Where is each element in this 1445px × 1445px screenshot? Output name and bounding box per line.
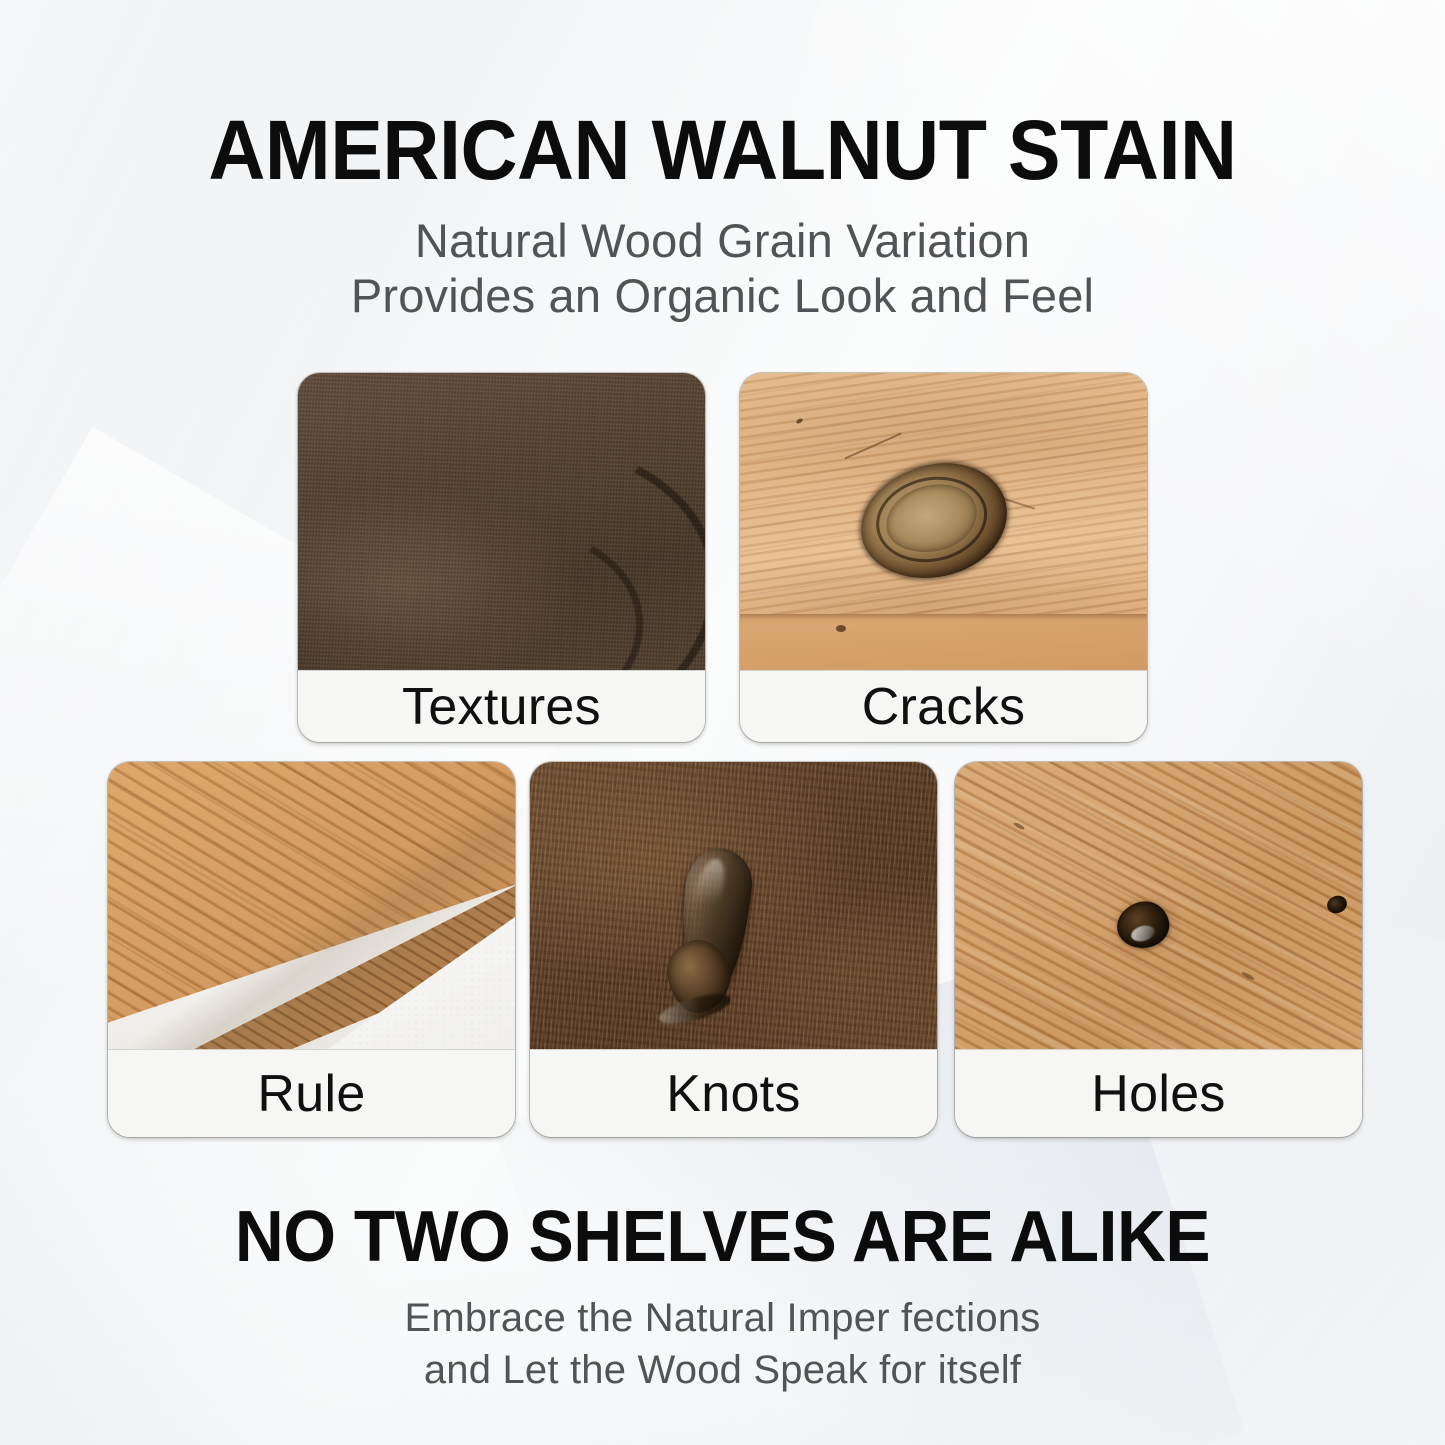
- feature-card-cracks[interactable]: Cracks: [740, 373, 1147, 742]
- wood-hole-small: [1325, 893, 1350, 916]
- footer-subtitle: Embrace the Natural Imper fections and L…: [0, 1292, 1445, 1396]
- footer-title: NO TWO SHELVES ARE ALIKE: [43, 1197, 1401, 1277]
- grain-speck: [795, 418, 803, 425]
- card-photo-holes: [955, 762, 1362, 1049]
- footer-subtitle-line-2: and Let the Wood Speak for itself: [0, 1344, 1445, 1396]
- grain-speck: [1013, 821, 1025, 830]
- board-seam: [740, 614, 1147, 670]
- card-label-rule: Rule: [108, 1049, 515, 1137]
- card-label-holes: Holes: [955, 1049, 1362, 1137]
- wood-swatch-holes: [955, 762, 1362, 1049]
- grain-speck: [1241, 971, 1255, 981]
- card-photo-cracks: [740, 373, 1147, 670]
- card-photo-rule: [108, 762, 515, 1049]
- feature-card-holes[interactable]: Holes: [955, 762, 1362, 1137]
- feature-card-knots[interactable]: Knots: [530, 762, 937, 1137]
- feature-card-textures[interactable]: Textures: [298, 373, 705, 742]
- wood-swatch-rule: [108, 762, 515, 1049]
- page-title: AMERICAN WALNUT STAIN: [43, 104, 1401, 196]
- infographic-page: AMERICAN WALNUT STAIN Natural Wood Grain…: [0, 0, 1445, 1445]
- wood-knot: [850, 451, 1018, 591]
- footer-subtitle-line-1: Embrace the Natural Imper fections: [0, 1292, 1445, 1344]
- grain-speck: [836, 625, 846, 632]
- wood-swatch-cracks: [740, 373, 1147, 670]
- page-subtitle-line-1: Natural Wood Grain Variation: [0, 213, 1445, 268]
- feature-card-rule[interactable]: Rule: [108, 762, 515, 1137]
- wood-swatch-knots: [530, 762, 937, 1049]
- wood-swatch-textures: [298, 373, 705, 670]
- card-label-knots: Knots: [530, 1049, 937, 1137]
- card-photo-knots: [530, 762, 937, 1049]
- card-label-textures: Textures: [298, 670, 705, 742]
- card-label-cracks: Cracks: [740, 670, 1147, 742]
- page-subtitle-line-2: Provides an Organic Look and Feel: [0, 268, 1445, 323]
- crack-line: [844, 432, 901, 459]
- page-subtitle: Natural Wood Grain Variation Provides an…: [0, 213, 1445, 323]
- card-photo-textures: [298, 373, 705, 670]
